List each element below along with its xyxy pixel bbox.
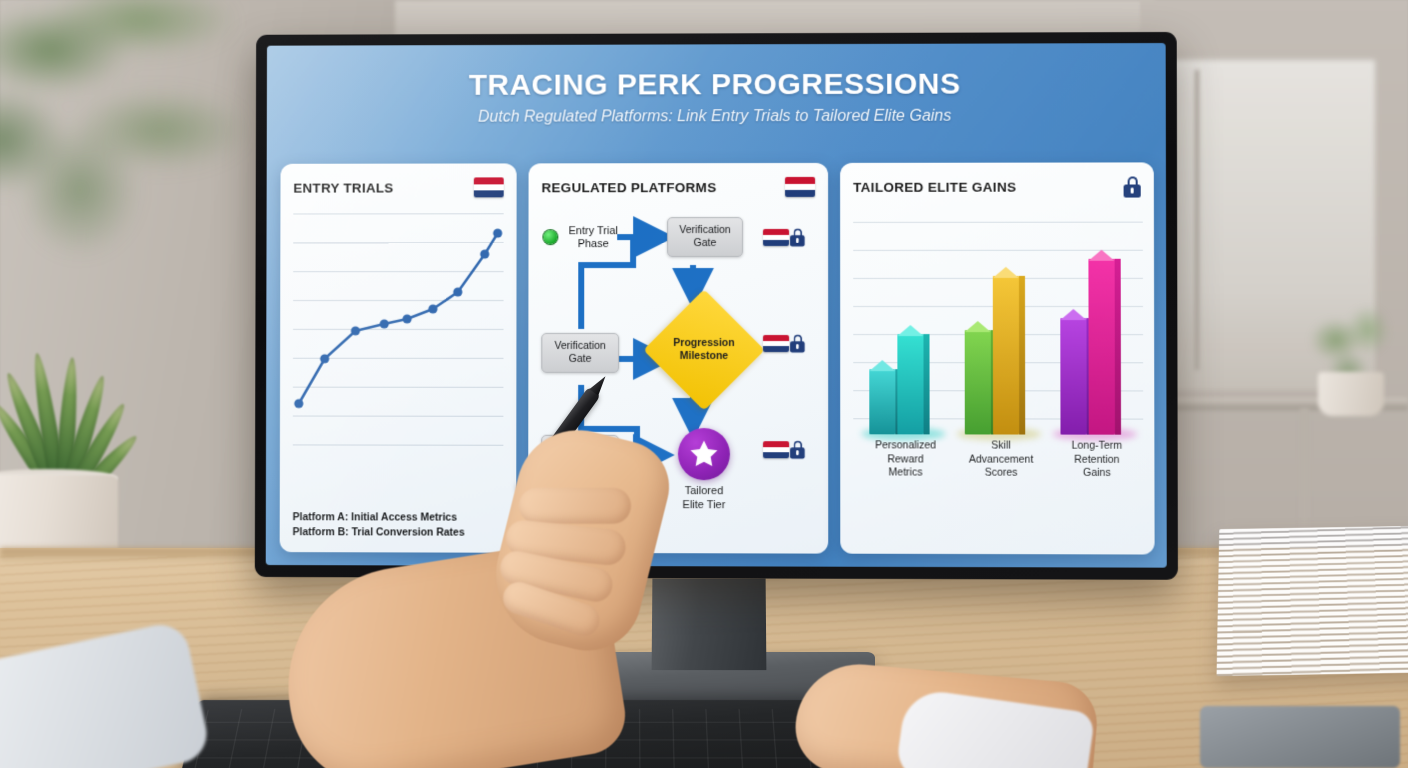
flow-node-tailored-elite-tier[interactable] (678, 428, 730, 480)
flow-node-progression-milestone-label: ProgressionMilestone (645, 337, 763, 363)
mousepad (1200, 706, 1400, 768)
bar-skill-primary (965, 330, 991, 434)
office-scene: TRACING PERK PROGRESSIONS Dutch Regulate… (0, 0, 1408, 768)
netherlands-flag-icon (763, 441, 789, 458)
bar-group-long-term-retention-gains[interactable] (1060, 259, 1115, 435)
compliance-badge-2 (763, 333, 807, 354)
monitor-stand-neck (652, 579, 767, 671)
flow-node-verification-gate-mid[interactable]: VerificationGate (541, 333, 619, 373)
line-series-platform-a (293, 209, 504, 476)
netherlands-flag-icon (785, 177, 815, 197)
tailored-elite-gains-bar-chart: PersonalizedRewardMetrics (853, 212, 1143, 481)
background-plant-pot (1318, 372, 1384, 416)
bar-personalized-secondary (897, 334, 923, 434)
bar-label-long-term-retention-gains: Long-TermRetentionGains (1048, 440, 1145, 481)
lock-icon (790, 228, 805, 246)
bar-retention-secondary (1088, 259, 1115, 435)
monitor-screen[interactable]: TRACING PERK PROGRESSIONS Dutch Regulate… (266, 43, 1167, 568)
bar-group-personalized-reward-metrics[interactable] (869, 334, 923, 434)
bar-group-skill-advancement-scores[interactable] (965, 276, 1020, 435)
panel-title-regulated-platforms: REGULATED PLATFORMS (541, 180, 716, 195)
bar-skill-secondary (993, 276, 1019, 435)
panel-row: ENTRY TRIALS (280, 162, 1155, 554)
potted-snake-plant (0, 355, 190, 555)
background-foliage (0, 0, 290, 290)
entry-trials-line-chart (293, 209, 504, 476)
presentation-header: TRACING PERK PROGRESSIONS Dutch Regulate… (267, 67, 1166, 127)
panel-title-tailored-elite-gains: TAILORED ELITE GAINS (853, 180, 1016, 195)
flow-node-verification-gate-top[interactable]: VerificationGate (667, 217, 743, 257)
entry-trials-legend: Platform A: Initial Access Metrics Platf… (293, 510, 465, 540)
lock-icon (1124, 176, 1141, 197)
compliance-badge-1 (763, 227, 807, 248)
computer-monitor: TRACING PERK PROGRESSIONS Dutch Regulate… (255, 32, 1178, 580)
flow-start-label: Entry TrialPhase (560, 225, 626, 252)
compliance-badge-3 (763, 439, 807, 460)
legend-item-platform-b: Platform B: Trial Conversion Rates (293, 525, 465, 540)
panel-entry-trials[interactable]: ENTRY TRIALS (280, 163, 517, 552)
panel-header-tailored-elite-gains: TAILORED ELITE GAINS (853, 176, 1141, 197)
page-title: TRACING PERK PROGRESSIONS (267, 67, 1166, 103)
legend-item-platform-a: Platform A: Initial Access Metrics (293, 510, 465, 525)
green-status-dot (543, 230, 557, 244)
side-table-leg (1300, 408, 1309, 538)
netherlands-flag-icon (763, 229, 789, 246)
star-icon (687, 437, 721, 471)
netherlands-flag-icon (474, 177, 504, 197)
bar-label-personalized-reward-metrics: PersonalizedRewardMetrics (857, 439, 954, 480)
bar-personalized-primary (869, 369, 895, 434)
bar-retention-primary (1060, 318, 1086, 435)
lock-icon (790, 441, 805, 459)
panel-header-regulated-platforms: REGULATED PLATFORMS (541, 177, 815, 197)
panel-title-entry-trials: ENTRY TRIALS (293, 180, 393, 195)
paper-stack (1217, 526, 1408, 676)
panel-header-entry-trials: ENTRY TRIALS (293, 177, 503, 197)
page-subtitle: Dutch Regulated Platforms: Link Entry Tr… (267, 107, 1166, 127)
window-frame (1195, 70, 1199, 370)
lock-icon (790, 334, 805, 352)
panel-tailored-elite-gains[interactable]: TAILORED ELITE GAINS (840, 162, 1155, 554)
bar-label-skill-advancement-scores: SkillAdvancementScores (953, 440, 1050, 481)
netherlands-flag-icon (763, 335, 789, 352)
